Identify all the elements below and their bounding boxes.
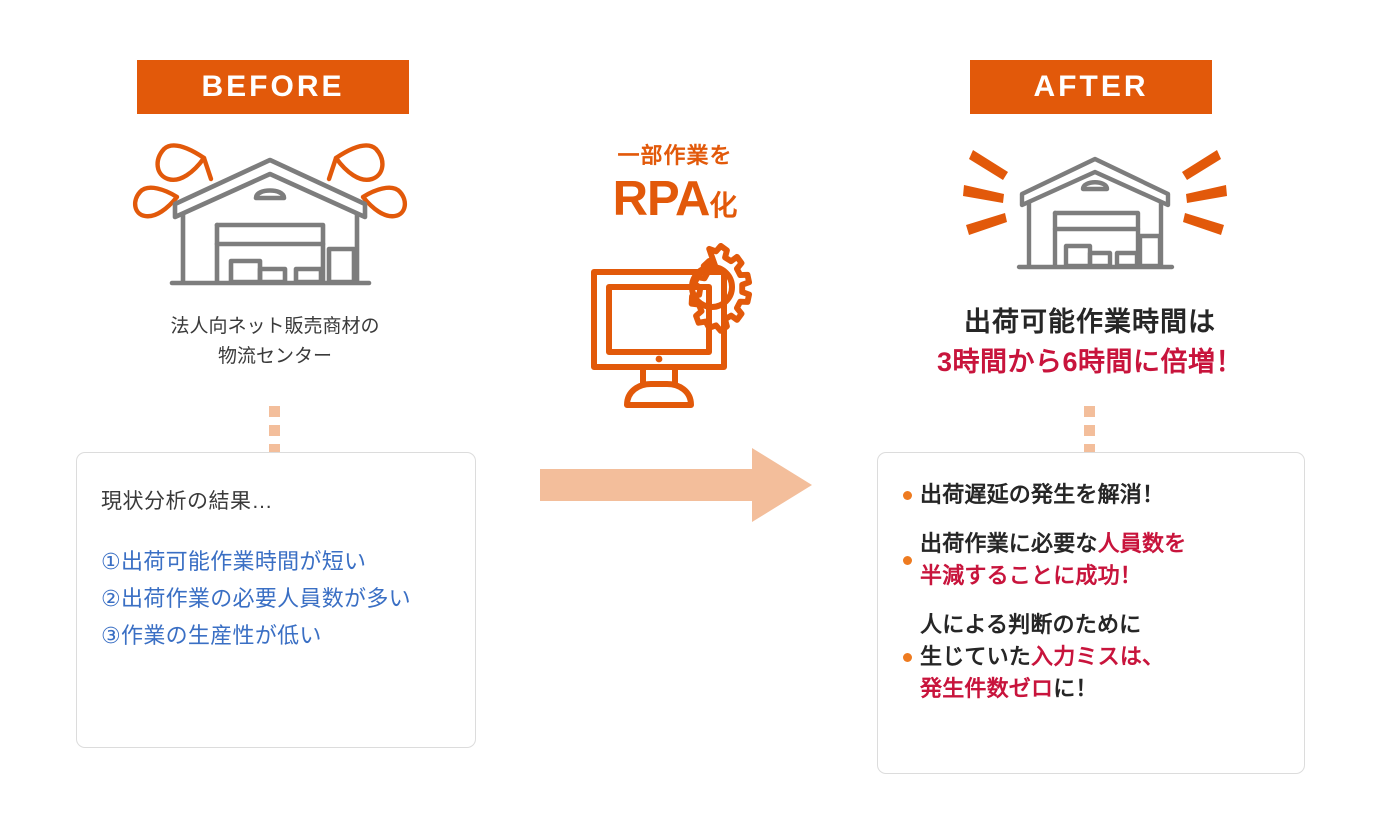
bullet-icon bbox=[894, 491, 920, 500]
infographic-canvas: BEFORE bbox=[0, 0, 1380, 832]
list-item: 出荷作業に必要な人員数を半減することに成功！ bbox=[894, 528, 1294, 592]
plain-text: 出荷作業に必要な bbox=[920, 531, 1098, 556]
list-item-line: 出荷作業に必要な人員数を bbox=[920, 528, 1186, 560]
after-panel: 出荷遅延の発生を解消！出荷作業に必要な人員数を半減することに成功！人による判断の… bbox=[877, 452, 1305, 774]
monitor-with-gear-icon bbox=[583, 243, 768, 411]
warehouse-with-sparkles-icon bbox=[960, 128, 1230, 288]
before-caption-line2: 物流センター bbox=[80, 342, 470, 372]
after-badge: AFTER bbox=[970, 60, 1212, 114]
plain-text: 人による判断のために bbox=[920, 612, 1141, 637]
rpa-main-label: RPA bbox=[613, 172, 710, 226]
list-item: ①出荷可能作業時間が短い bbox=[101, 543, 457, 580]
bullet-icon bbox=[894, 653, 920, 662]
list-item: ②出荷作業の必要人員数が多い bbox=[101, 580, 457, 617]
plain-text: 生じていた bbox=[920, 644, 1031, 669]
before-panel: 現状分析の結果… ①出荷可能作業時間が短い ②出荷作業の必要人員数が多い ③作業… bbox=[76, 452, 476, 748]
rpa-main-suffix: 化 bbox=[709, 190, 737, 221]
right-arrow bbox=[540, 440, 820, 530]
highlight-text: 人員数を bbox=[1098, 531, 1187, 556]
before-caption-line1: 法人向ネット販売商材の bbox=[80, 312, 470, 342]
list-item-line: 人による判断のために bbox=[920, 609, 1164, 641]
list-item: ③作業の生産性が低い bbox=[101, 617, 457, 654]
after-caption-line1: 出荷可能作業時間は bbox=[880, 302, 1300, 342]
before-panel-intro: 現状分析の結果… bbox=[101, 485, 273, 515]
before-caption: 法人向ネット販売商材の 物流センター bbox=[80, 312, 470, 372]
highlight-text: 発生件数ゼロ bbox=[920, 676, 1053, 701]
list-item: 人による判断のために生じていた入力ミスは、発生件数ゼロに！ bbox=[894, 609, 1294, 705]
highlight-text: 半減することに成功！ bbox=[920, 563, 1142, 588]
plain-text: に！ bbox=[1053, 676, 1097, 701]
list-item-line: 発生件数ゼロに！ bbox=[920, 673, 1164, 705]
rpa-main-label-group: RPA化 bbox=[560, 170, 790, 240]
rpa-sub-label: 一部作業を bbox=[560, 142, 790, 170]
rpa-caption: 一部作業を RPA化 bbox=[560, 142, 790, 240]
after-caption: 出荷可能作業時間は 3時間から6時間に倍増！ bbox=[880, 302, 1300, 382]
after-results-list: 出荷遅延の発生を解消！出荷作業に必要な人員数を半減することに成功！人による判断の… bbox=[894, 479, 1294, 722]
plain-text: 出荷遅延の発生を解消！ bbox=[920, 482, 1164, 507]
before-findings-list: ①出荷可能作業時間が短い ②出荷作業の必要人員数が多い ③作業の生産性が低い bbox=[101, 543, 457, 654]
list-item-text: 人による判断のために生じていた入力ミスは、発生件数ゼロに！ bbox=[920, 609, 1164, 705]
bullet-icon bbox=[894, 556, 920, 565]
list-item-text: 出荷作業に必要な人員数を半減することに成功！ bbox=[920, 528, 1186, 592]
after-caption-line2: 3時間から6時間に倍増！ bbox=[880, 342, 1300, 382]
list-item-text: 出荷遅延の発生を解消！ bbox=[920, 479, 1164, 511]
list-item-line: 生じていた入力ミスは、 bbox=[920, 641, 1164, 673]
before-badge: BEFORE bbox=[137, 60, 409, 114]
list-item: 出荷遅延の発生を解消！ bbox=[894, 479, 1294, 511]
list-item-line: 半減することに成功！ bbox=[920, 560, 1186, 592]
list-item-line: 出荷遅延の発生を解消！ bbox=[920, 479, 1164, 511]
warehouse-with-sweat-drops-icon bbox=[120, 122, 420, 297]
highlight-text: 入力ミスは、 bbox=[1031, 644, 1164, 669]
